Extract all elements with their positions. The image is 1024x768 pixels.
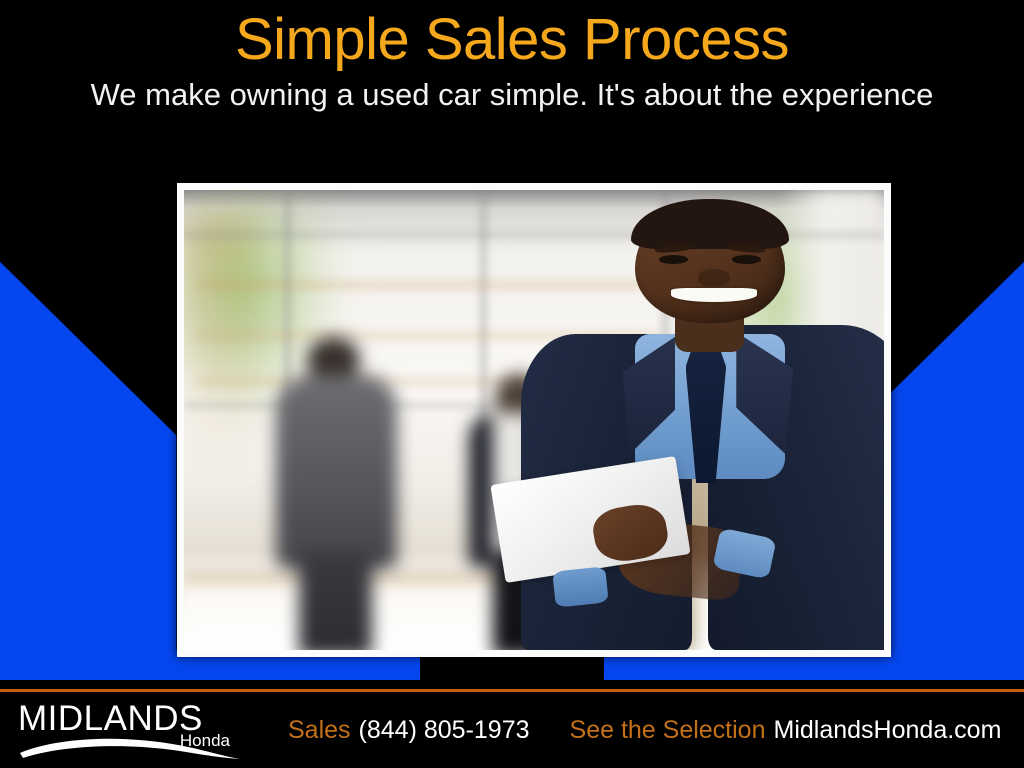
foreground-businessman: [513, 199, 884, 650]
eye-right: [732, 255, 760, 264]
hero-photo-frame: [177, 183, 891, 657]
torso: [276, 375, 396, 569]
footer-bar: MIDLANDS Honda Sales (844) 805-1973 See …: [0, 692, 1024, 768]
website-url[interactable]: MidlandsHonda.com: [774, 716, 1002, 745]
hero-photo: [184, 190, 884, 650]
nose: [698, 269, 730, 287]
hair: [631, 199, 789, 249]
midlands-honda-logo[interactable]: MIDLANDS Honda: [18, 699, 246, 761]
smile: [671, 288, 756, 302]
background-person-man-grey-suit: [268, 337, 408, 650]
contact-info: Sales (844) 805-1973 See the Selection M…: [288, 716, 1001, 745]
shirt-cuff-left: [552, 566, 608, 607]
sales-phone[interactable]: (844) 805-1973: [359, 716, 530, 745]
page-title: Simple Sales Process: [0, 0, 1024, 73]
sales-label: Sales: [288, 716, 351, 745]
page-subtitle: We make owning a used car simple. It's a…: [0, 73, 1024, 114]
see-the-selection-label: See the Selection: [570, 716, 766, 745]
header: Simple Sales Process We make owning a us…: [0, 0, 1024, 114]
advertisement-banner: Simple Sales Process We make owning a us…: [0, 0, 1024, 768]
legs: [299, 550, 372, 650]
eye-left: [659, 255, 687, 264]
logo-swoosh-icon: [18, 731, 246, 761]
